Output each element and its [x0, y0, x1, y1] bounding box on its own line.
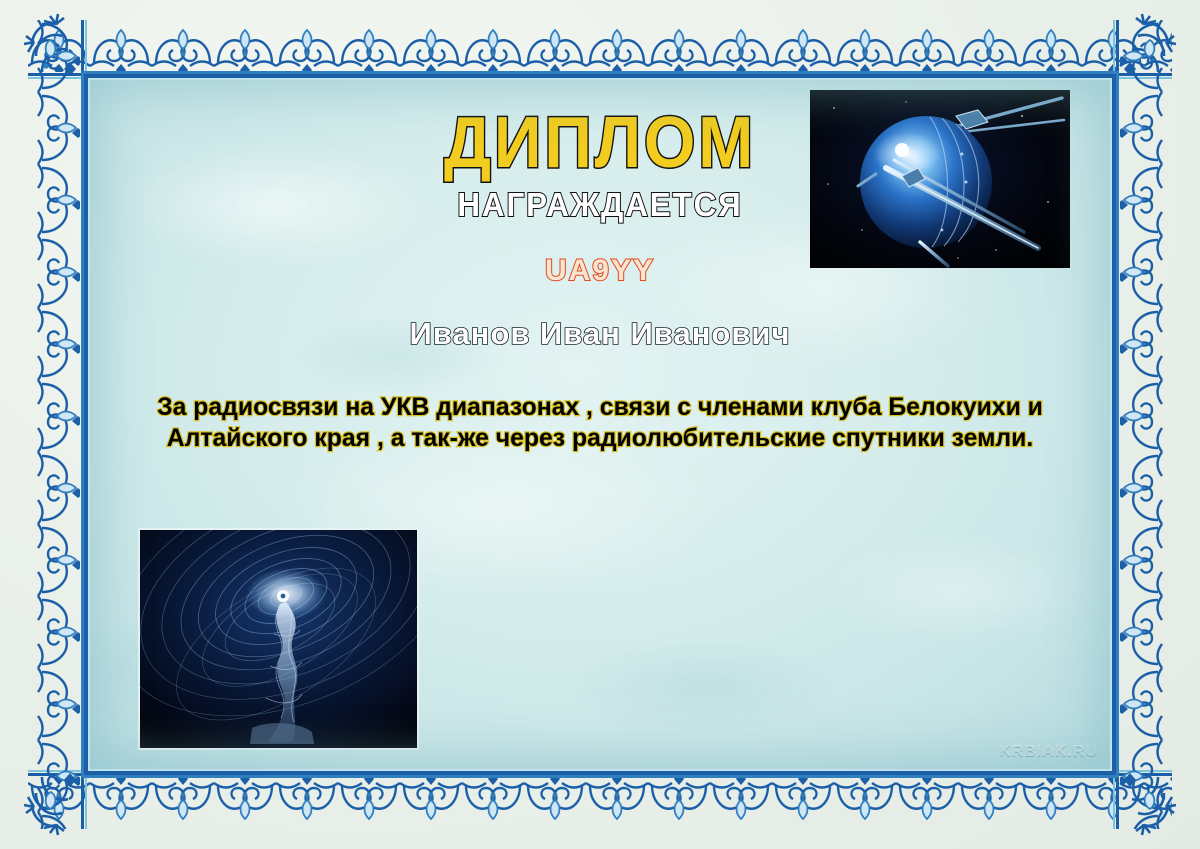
paper-vignette — [90, 80, 1110, 769]
border-band-top — [28, 20, 1172, 82]
border-band-right — [1110, 20, 1172, 829]
border-band-bottom — [28, 767, 1172, 829]
certificate-paper: ДИПЛОМ НАГРАЖДАЕТСЯ UA9YY Иванов Иван Ив… — [90, 80, 1110, 769]
certificate: ДИПЛОМ НАГРАЖДАЕТСЯ UA9YY Иванов Иван Ив… — [0, 0, 1200, 849]
border-band-left — [28, 20, 90, 829]
